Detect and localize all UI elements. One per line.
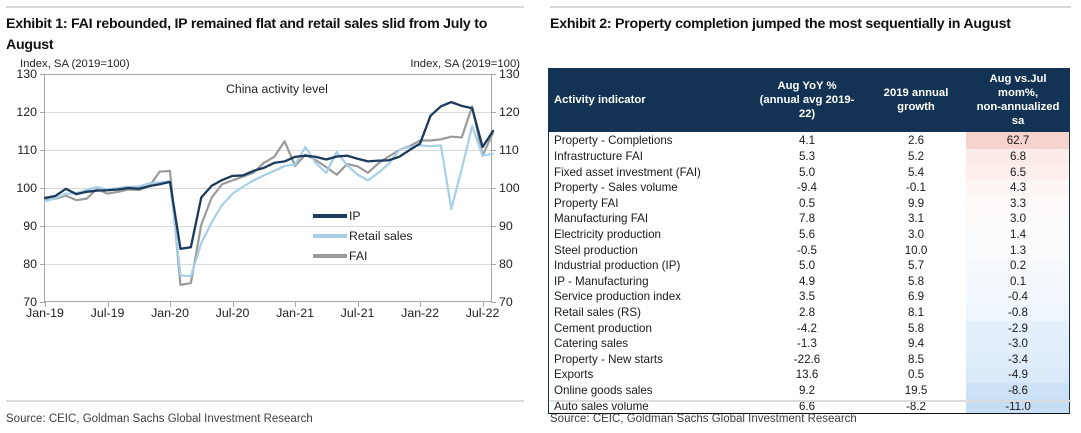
column-header-mom-line2: non-annualized sa — [977, 101, 1060, 127]
column-header-2019-growth-line2: growth — [897, 101, 935, 113]
column-header-2019-growth[interactable]: 2019 annualgrowth — [866, 68, 966, 132]
y-axis-label: 110 — [491, 143, 519, 157]
cell-mom: -3.4 — [966, 352, 1070, 368]
y-axis-label: 80 — [23, 257, 45, 271]
china-activity-chart: Index, SA (2019=100) Index, SA (2019=100… — [0, 58, 540, 388]
y-axis-label: 120 — [16, 105, 45, 119]
cell-activity-indicator: Infrastructure FAI — [548, 149, 748, 165]
x-axis-label: Jul-20 — [216, 306, 250, 320]
y-axis-label: 100 — [491, 181, 520, 195]
column-header-aug-yoy[interactable]: Aug YoY %(annual avg 2019-22) — [748, 68, 866, 132]
x-axis-label: Jan-19 — [26, 306, 64, 320]
cell-2019-growth: 5.4 — [866, 165, 966, 181]
column-header-2019-growth-line1: 2019 annual — [884, 87, 949, 99]
cell-mom: -4.9 — [966, 367, 1070, 383]
cell-mom: 4.3 — [966, 180, 1070, 196]
activity-indicator-table: Activity indicator Aug YoY %(annual avg … — [548, 68, 1070, 414]
cell-2019-growth: 2.6 — [866, 132, 966, 149]
cell-2019-growth: 8.5 — [866, 352, 966, 368]
cell-aug-yoy: 5.0 — [748, 258, 866, 274]
cell-2019-growth: 5.2 — [866, 149, 966, 165]
table-row[interactable]: Service production index3.56.9-0.4 — [548, 289, 1070, 305]
y-axis-label: 110 — [17, 143, 45, 157]
cell-activity-indicator: Steel production — [548, 243, 748, 259]
cell-aug-yoy: 7.8 — [748, 211, 866, 227]
cell-aug-yoy: 5.0 — [748, 165, 866, 181]
cell-mom: 1.4 — [966, 227, 1070, 243]
exhibit-1-panel: Exhibit 1: FAI rebounded, IP remained fl… — [0, 0, 540, 433]
cell-2019-growth: 9.9 — [866, 196, 966, 212]
cell-2019-growth: 3.0 — [866, 227, 966, 243]
table-row[interactable]: Exports13.60.5-4.9 — [548, 367, 1070, 383]
source-divider — [6, 400, 524, 402]
cell-mom: 0.2 — [966, 258, 1070, 274]
cell-mom: -0.4 — [966, 289, 1070, 305]
chart-plot-area: China activity level IP Retail sales FAI — [44, 74, 492, 302]
table-row[interactable]: Property - Sales volume-9.4-0.14.3 — [548, 180, 1070, 196]
table-head: Activity indicator Aug YoY %(annual avg … — [548, 68, 1070, 132]
top-divider — [6, 6, 524, 8]
x-axis-label: Jul-21 — [341, 306, 375, 320]
cell-aug-yoy: 5.6 — [748, 227, 866, 243]
cell-activity-indicator: Retail sales (RS) — [548, 305, 748, 321]
table-row[interactable]: Cement production-4.25.8-2.9 — [548, 321, 1070, 337]
cell-mom: 6.8 — [966, 149, 1070, 165]
cell-activity-indicator: IP - Manufacturing — [548, 274, 748, 290]
top-divider — [550, 6, 1071, 8]
cell-aug-yoy: 5.3 — [748, 149, 866, 165]
chart-line-ip — [45, 102, 493, 249]
table-row[interactable]: Online goods sales9.219.5-8.6 — [548, 383, 1070, 399]
cell-activity-indicator: Property - Sales volume — [548, 180, 748, 196]
y-axis-label: 120 — [491, 105, 520, 119]
cell-aug-yoy: 0.5 — [748, 196, 866, 212]
cell-activity-indicator: Fixed asset investment (FAI) — [548, 165, 748, 181]
y-axis-label: 80 — [491, 257, 513, 271]
cell-activity-indicator: Industrial production (IP) — [548, 258, 748, 274]
cell-mom: 3.3 — [966, 196, 1070, 212]
chart-line-retail-sales — [45, 126, 493, 276]
exhibit-1-title: Exhibit 1: FAI rebounded, IP remained fl… — [6, 14, 528, 55]
table-row[interactable]: Catering sales-1.39.4-3.0 — [548, 336, 1070, 352]
cell-mom: -2.9 — [966, 321, 1070, 337]
chart-line-fai — [45, 106, 493, 285]
table-row[interactable]: Property FAI0.59.93.3 — [548, 196, 1070, 212]
cell-2019-growth: 3.1 — [866, 211, 966, 227]
cell-mom: -0.8 — [966, 305, 1070, 321]
cell-aug-yoy: 2.8 — [748, 305, 866, 321]
cell-aug-yoy: -4.2 — [748, 321, 866, 337]
cell-2019-growth: -0.1 — [866, 180, 966, 196]
cell-activity-indicator: Exports — [548, 367, 748, 383]
x-axis-label: Jul-19 — [91, 306, 125, 320]
column-header-aug-yoy-line1: Aug YoY % — [777, 80, 836, 92]
y-axis-label: 90 — [491, 219, 513, 233]
cell-2019-growth: 6.9 — [866, 289, 966, 305]
table-header-row: Activity indicator Aug YoY %(annual avg … — [548, 68, 1070, 132]
table-row[interactable]: Infrastructure FAI5.35.26.8 — [548, 149, 1070, 165]
source-divider — [550, 400, 1071, 402]
y-axis-label: 130 — [16, 67, 45, 81]
cell-activity-indicator: Service production index — [548, 289, 748, 305]
column-header-activity-indicator[interactable]: Activity indicator — [548, 68, 748, 132]
cell-mom: -3.0 — [966, 336, 1070, 352]
table-row[interactable]: Property - Completions4.12.662.7 — [548, 132, 1070, 149]
x-axis-label: Jan-22 — [401, 306, 439, 320]
chart-series-svg — [45, 74, 493, 302]
cell-mom: 6.5 — [966, 165, 1070, 181]
table-row[interactable]: Manufacturing FAI7.83.13.0 — [548, 211, 1070, 227]
table-row[interactable]: IP - Manufacturing4.95.80.1 — [548, 274, 1070, 290]
column-header-mom[interactable]: Aug vs.Jul mom%,non-annualized sa — [966, 68, 1070, 132]
cell-aug-yoy: 4.9 — [748, 274, 866, 290]
exhibit-1-source: Source: CEIC, Goldman Sachs Global Inves… — [6, 413, 313, 425]
cell-2019-growth: 5.8 — [866, 321, 966, 337]
cell-mom: -8.6 — [966, 383, 1070, 399]
activity-indicator-table-wrap: Activity indicator Aug YoY %(annual avg … — [548, 68, 1070, 414]
cell-2019-growth: 0.5 — [866, 367, 966, 383]
cell-activity-indicator: Property - Completions — [548, 132, 748, 149]
table-body: Property - Completions4.12.662.7Infrastr… — [548, 132, 1070, 414]
cell-aug-yoy: -1.3 — [748, 336, 866, 352]
x-axis-label: Jan-20 — [151, 306, 189, 320]
cell-2019-growth: 8.1 — [866, 305, 966, 321]
column-header-mom-line1: Aug vs.Jul mom%, — [989, 73, 1046, 99]
cell-activity-indicator: Catering sales — [548, 336, 748, 352]
cell-aug-yoy: 4.1 — [748, 132, 866, 149]
cell-activity-indicator: Cement production — [548, 321, 748, 337]
table-row[interactable]: Industrial production (IP)5.05.70.2 — [548, 258, 1070, 274]
exhibit-2-title: Exhibit 2: Property completion jumped th… — [550, 14, 1066, 35]
cell-2019-growth: 19.5 — [866, 383, 966, 399]
cell-2019-growth: 9.4 — [866, 336, 966, 352]
x-axis-label: Jan-21 — [276, 306, 314, 320]
cell-mom: 62.7 — [966, 132, 1070, 149]
y-axis-label: 90 — [23, 219, 45, 233]
cell-2019-growth: 5.7 — [866, 258, 966, 274]
cell-activity-indicator: Online goods sales — [548, 383, 748, 399]
exhibit-2-source: Source: CEIC, Goldman Sachs Global Inves… — [550, 413, 857, 425]
cell-aug-yoy: 9.2 — [748, 383, 866, 399]
cell-aug-yoy: 3.5 — [748, 289, 866, 305]
x-axis-label: Jul-22 — [466, 306, 500, 320]
cell-2019-growth: 5.8 — [866, 274, 966, 290]
cell-aug-yoy: -22.6 — [748, 352, 866, 368]
cell-activity-indicator: Electricity production — [548, 227, 748, 243]
cell-2019-growth: 10.0 — [866, 243, 966, 259]
table-row[interactable]: Property - New starts-22.68.5-3.4 — [548, 352, 1070, 368]
table-row[interactable]: Electricity production5.63.01.4 — [548, 227, 1070, 243]
cell-aug-yoy: 13.6 — [748, 367, 866, 383]
cell-mom: 1.3 — [966, 243, 1070, 259]
page-root: Exhibit 1: FAI rebounded, IP remained fl… — [0, 0, 1081, 433]
cell-mom: 0.1 — [966, 274, 1070, 290]
y-axis-label: 130 — [491, 67, 520, 81]
cell-mom: 3.0 — [966, 211, 1070, 227]
table-row[interactable]: Retail sales (RS)2.88.1-0.8 — [548, 305, 1070, 321]
table-row[interactable]: Fixed asset investment (FAI)5.05.46.5 — [548, 165, 1070, 181]
y-axis-label: 100 — [16, 181, 45, 195]
exhibit-2-panel: Exhibit 2: Property completion jumped th… — [540, 0, 1081, 433]
table-row[interactable]: Steel production-0.510.01.3 — [548, 243, 1070, 259]
cell-aug-yoy: -9.4 — [748, 180, 866, 196]
cell-activity-indicator: Manufacturing FAI — [548, 211, 748, 227]
cell-aug-yoy: -0.5 — [748, 243, 866, 259]
cell-activity-indicator: Property FAI — [548, 196, 748, 212]
cell-activity-indicator: Property - New starts — [548, 352, 748, 368]
column-header-aug-yoy-line2: (annual avg 2019-22) — [760, 94, 855, 120]
